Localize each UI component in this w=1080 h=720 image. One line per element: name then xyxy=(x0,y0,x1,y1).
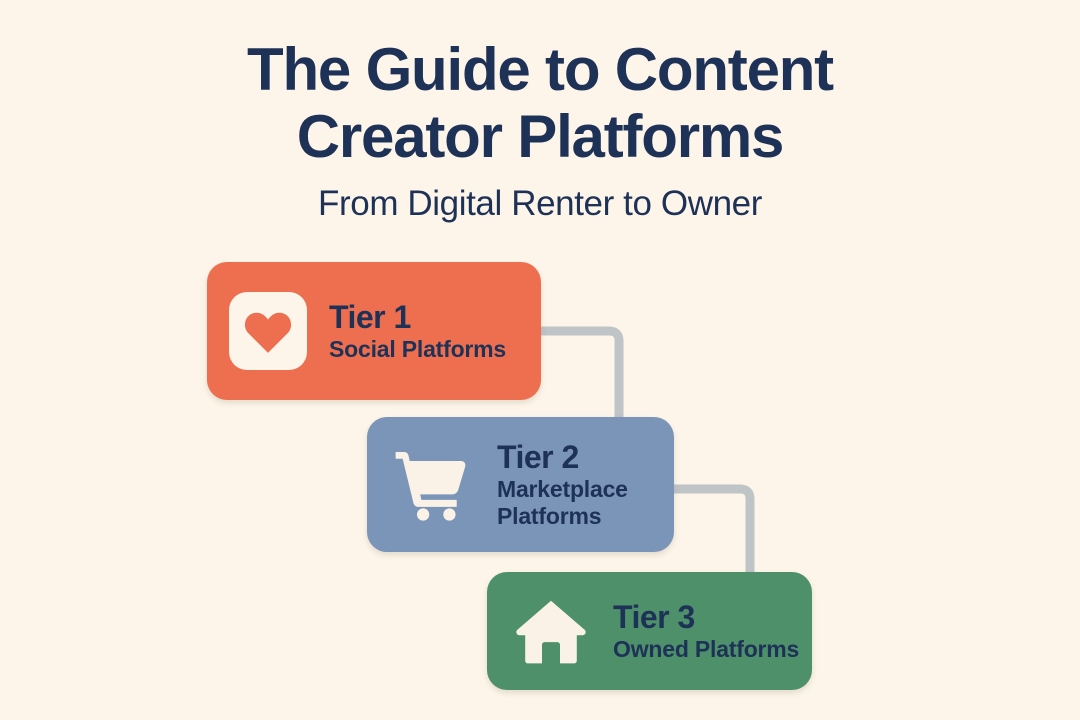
tier-3-subtitle: Owned Platforms xyxy=(613,636,799,663)
tier-1-heading: Tier 1 xyxy=(329,299,506,336)
connector-tier2-tier3 xyxy=(668,480,768,580)
tier-2-heading: Tier 2 xyxy=(497,439,628,476)
icon-plate xyxy=(229,292,307,370)
heart-icon xyxy=(243,308,293,354)
tier-3-text: Tier 3 Owned Platforms xyxy=(613,599,799,663)
tier-card-2[interactable]: Tier 2 Marketplace Platforms xyxy=(367,417,674,552)
tier-card-1[interactable]: Tier 1 Social Platforms xyxy=(207,262,541,400)
shopping-cart-icon xyxy=(393,448,469,522)
tier-2-subtitle: Marketplace Platforms xyxy=(497,476,628,530)
tier-2-icon-container xyxy=(393,448,469,522)
connector-tier1-tier2 xyxy=(535,322,635,426)
tier-2-text: Tier 2 Marketplace Platforms xyxy=(497,439,628,530)
house-icon xyxy=(515,598,587,664)
infographic-canvas: The Guide to Content Creator Platforms F… xyxy=(0,0,1080,720)
tier-3-heading: Tier 3 xyxy=(613,599,799,636)
tier-1-icon-container xyxy=(229,292,307,370)
tier-card-3[interactable]: Tier 3 Owned Platforms xyxy=(487,572,812,690)
tier-3-icon-container xyxy=(515,598,587,664)
tier-1-text: Tier 1 Social Platforms xyxy=(329,299,506,363)
header: The Guide to Content Creator Platforms F… xyxy=(0,0,1080,224)
page-subtitle: From Digital Renter to Owner xyxy=(0,170,1080,224)
page-title: The Guide to Content Creator Platforms xyxy=(0,0,1080,170)
tier-1-subtitle: Social Platforms xyxy=(329,336,506,363)
